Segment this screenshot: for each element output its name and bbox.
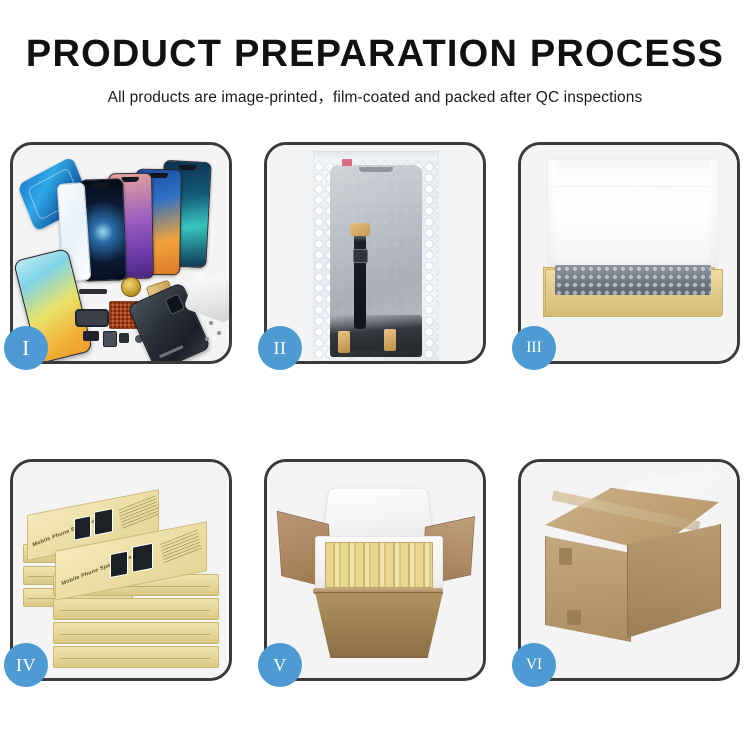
qc-sticker xyxy=(342,159,352,166)
step-badge-6: VI xyxy=(512,643,556,687)
stacked-box xyxy=(53,622,219,644)
flex-connector xyxy=(350,223,370,236)
carton-tape-mark-lower xyxy=(567,610,581,625)
process-step-panel-1: I xyxy=(10,142,232,364)
chip-part xyxy=(83,331,99,341)
process-step-panel-4: Mobile Phone Spare Parts Mobile Phone Sp… xyxy=(10,459,232,681)
gold-contact-tab xyxy=(384,329,396,351)
carton-front-face xyxy=(545,536,631,642)
screw-part xyxy=(209,321,213,325)
process-step-panel-2: II xyxy=(264,142,486,364)
step-4-image: Mobile Phone Spare Parts Mobile Phone Sp… xyxy=(13,462,229,678)
antenna-bar-part xyxy=(79,289,107,294)
process-step-panel-6: VI xyxy=(518,459,740,681)
step-5-image xyxy=(267,462,483,678)
header: PRODUCT PREPARATION PROCESS All products… xyxy=(0,34,750,107)
process-step-grid: I II xyxy=(10,142,740,688)
lid-spec-text-lines xyxy=(118,495,159,530)
foam-insert xyxy=(555,201,709,263)
bubble-wrap-bag xyxy=(313,151,439,361)
phone-notch-icon xyxy=(93,183,110,189)
phone-notch-icon xyxy=(178,165,197,171)
product-preparation-infographic: PRODUCT PREPARATION PROCESS All products… xyxy=(0,0,750,750)
page-subtitle: All products are image-printed，film-coat… xyxy=(0,85,750,107)
battery-connector-part xyxy=(103,331,117,347)
lid-screen-image xyxy=(110,551,128,578)
carton-tape-mark-upper xyxy=(559,548,572,565)
display-flex-cable xyxy=(354,225,366,329)
phone-notch-icon xyxy=(122,177,139,182)
gold-contact-tab xyxy=(338,331,350,353)
step-badge-1: I xyxy=(4,326,48,370)
assembly-notch-icon xyxy=(359,167,393,172)
process-step-panel-5: V xyxy=(264,459,486,681)
step-badge-4: IV xyxy=(4,643,48,687)
lid-screen-image xyxy=(74,515,91,540)
step-3-image xyxy=(521,145,737,361)
phone-notch-icon xyxy=(150,173,168,178)
screw-part xyxy=(217,331,221,335)
step-badge-2: II xyxy=(258,326,302,370)
lid-spec-text-lines xyxy=(160,530,201,565)
step-1-image xyxy=(13,145,229,361)
driver-ic-chip xyxy=(353,249,368,263)
bag-seal xyxy=(314,151,438,160)
stacked-box xyxy=(53,598,219,620)
ribbon-cable-part xyxy=(75,309,109,327)
screw-part xyxy=(205,337,209,341)
camera-module-part xyxy=(119,333,129,343)
packed-kraft-boxes xyxy=(325,542,433,588)
carton-body xyxy=(315,592,443,658)
process-step-panel-3: III xyxy=(518,142,740,364)
bubble-wrapped-contents xyxy=(555,265,711,295)
speaker-part xyxy=(121,277,141,297)
box-stack: Mobile Phone Spare Parts Mobile Phone Sp… xyxy=(21,478,227,670)
step-6-image xyxy=(521,462,737,678)
stacked-box xyxy=(53,646,219,668)
step-badge-3: III xyxy=(512,326,556,370)
step-badge-5: V xyxy=(258,643,302,687)
page-title: PRODUCT PREPARATION PROCESS xyxy=(0,34,750,76)
lid-screen-image xyxy=(132,543,153,573)
lid-screen-image xyxy=(94,508,113,536)
step-2-image xyxy=(267,145,483,361)
